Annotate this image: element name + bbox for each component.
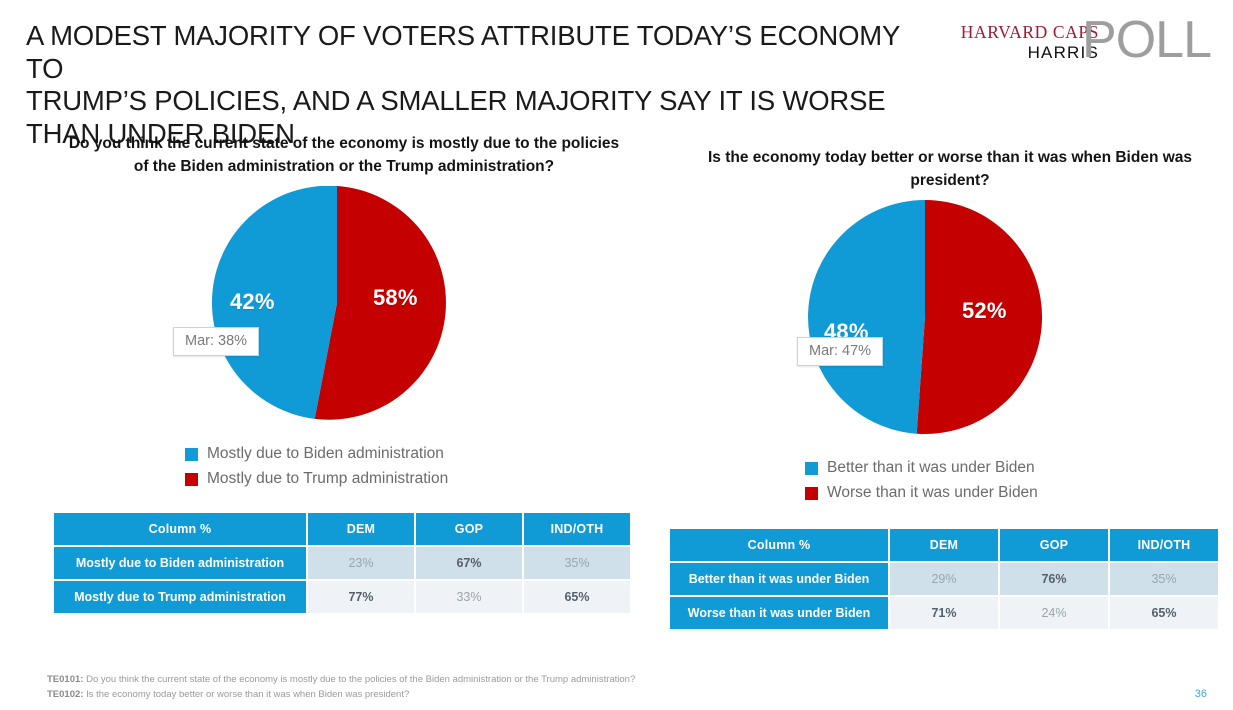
row-header: Mostly due to Trump administration <box>54 581 306 613</box>
column-header-dem: DEM <box>308 513 414 545</box>
pie-chart-right: 48% 52% Mar: 47% <box>660 200 1220 450</box>
callout-prior-wave-right: Mar: 47% <box>797 337 883 366</box>
footnote-line: TE0102: Is the economy today better or w… <box>47 687 635 702</box>
table-row: Better than it was under Biden 29% 76% 3… <box>670 563 1218 595</box>
row-header: Mostly due to Biden administration <box>54 547 306 579</box>
pie-chart-right-svg <box>660 200 1220 450</box>
column-header-column-pct: Column % <box>54 513 306 545</box>
chart-panel-economy-vs-biden: Is the economy today better or worse tha… <box>660 132 1220 631</box>
cell-gop: 76% <box>1000 563 1108 595</box>
pie-slice-better <box>808 200 925 434</box>
column-header-ind-oth: IND/OTH <box>524 513 630 545</box>
chart-panel-economy-attribution: Do you think the current state of the ec… <box>40 132 640 615</box>
cell-ind-oth: 65% <box>524 581 630 613</box>
column-header-gop: GOP <box>416 513 522 545</box>
legend-label: Mostly due to Trump administration <box>207 467 448 491</box>
legend-item: Worse than it was under Biden <box>805 481 1220 505</box>
legend-item: Mostly due to Trump administration <box>185 467 640 491</box>
table-header-row: Column % DEM GOP IND/OTH <box>54 513 630 545</box>
column-header-ind-oth: IND/OTH <box>1110 529 1218 561</box>
cell-dem: 29% <box>890 563 998 595</box>
crosstab-table-left: Column % DEM GOP IND/OTH Mostly due to B… <box>52 511 632 615</box>
legend-item: Better than it was under Biden <box>805 456 1220 480</box>
crosstab-table-right: Column % DEM GOP IND/OTH Better than it … <box>668 527 1220 631</box>
pie-value-label-worse: 52% <box>962 298 1007 324</box>
footnote-line: TE0101: Do you think the current state o… <box>47 672 635 687</box>
harvard-caps-harris-poll-logo: HARVARD CAPS HARRIS POLL <box>959 22 1211 72</box>
pie-chart-left-svg <box>40 186 640 436</box>
cell-dem: 77% <box>308 581 414 613</box>
footnote-code: TE0101: <box>47 674 83 685</box>
cell-dem: 23% <box>308 547 414 579</box>
legend-label: Mostly due to Biden administration <box>207 442 444 466</box>
column-header-column-pct: Column % <box>670 529 888 561</box>
footnote-text: Is the economy today better or worse tha… <box>83 689 409 700</box>
brand-text-block: HARVARD CAPS HARRIS <box>939 22 1099 63</box>
cell-dem: 71% <box>890 597 998 629</box>
cell-gop: 33% <box>416 581 522 613</box>
legend-label: Better than it was under Biden <box>827 456 1035 480</box>
footnotes: TE0101: Do you think the current state o… <box>47 672 635 702</box>
cell-gop: 24% <box>1000 597 1108 629</box>
footnote-text: Do you think the current state of the ec… <box>83 674 635 685</box>
row-header: Worse than it was under Biden <box>670 597 888 629</box>
brand-harris: HARRIS <box>939 42 1099 63</box>
table-row: Mostly due to Trump administration 77% 3… <box>54 581 630 613</box>
legend-right: Better than it was under Biden Worse tha… <box>805 456 1220 505</box>
column-header-gop: GOP <box>1000 529 1108 561</box>
cell-ind-oth: 35% <box>1110 563 1218 595</box>
legend-swatch-blue-icon <box>805 462 818 475</box>
legend-swatch-blue-icon <box>185 448 198 461</box>
page-number: 36 <box>1195 688 1207 700</box>
legend-left: Mostly due to Biden administration Mostl… <box>185 442 640 491</box>
cell-ind-oth: 65% <box>1110 597 1218 629</box>
legend-swatch-red-icon <box>805 487 818 500</box>
cell-gop: 67% <box>416 547 522 579</box>
footnote-code: TE0102: <box>47 689 83 700</box>
page-title: A MODEST MAJORITY OF VOTERS ATTRIBUTE TO… <box>26 20 936 150</box>
table-row: Mostly due to Biden administration 23% 6… <box>54 547 630 579</box>
column-header-dem: DEM <box>890 529 998 561</box>
brand-harvard-caps: HARVARD CAPS <box>939 22 1099 42</box>
row-header: Better than it was under Biden <box>670 563 888 595</box>
chart-question-left: Do you think the current state of the ec… <box>46 132 642 178</box>
table-row: Worse than it was under Biden 71% 24% 65… <box>670 597 1218 629</box>
table-header-row: Column % DEM GOP IND/OTH <box>670 529 1218 561</box>
pie-value-label-biden: 42% <box>230 289 275 315</box>
brand-poll-wordmark: POLL <box>1082 12 1211 68</box>
chart-question-right: Is the economy today better or worse tha… <box>682 146 1218 192</box>
legend-label: Worse than it was under Biden <box>827 481 1038 505</box>
callout-prior-wave-left: Mar: 38% <box>173 327 259 356</box>
legend-item: Mostly due to Biden administration <box>185 442 640 466</box>
pie-chart-left: 42% 58% Mar: 38% <box>40 186 640 436</box>
legend-swatch-red-icon <box>185 473 198 486</box>
cell-ind-oth: 35% <box>524 547 630 579</box>
pie-value-label-trump: 58% <box>373 285 418 311</box>
